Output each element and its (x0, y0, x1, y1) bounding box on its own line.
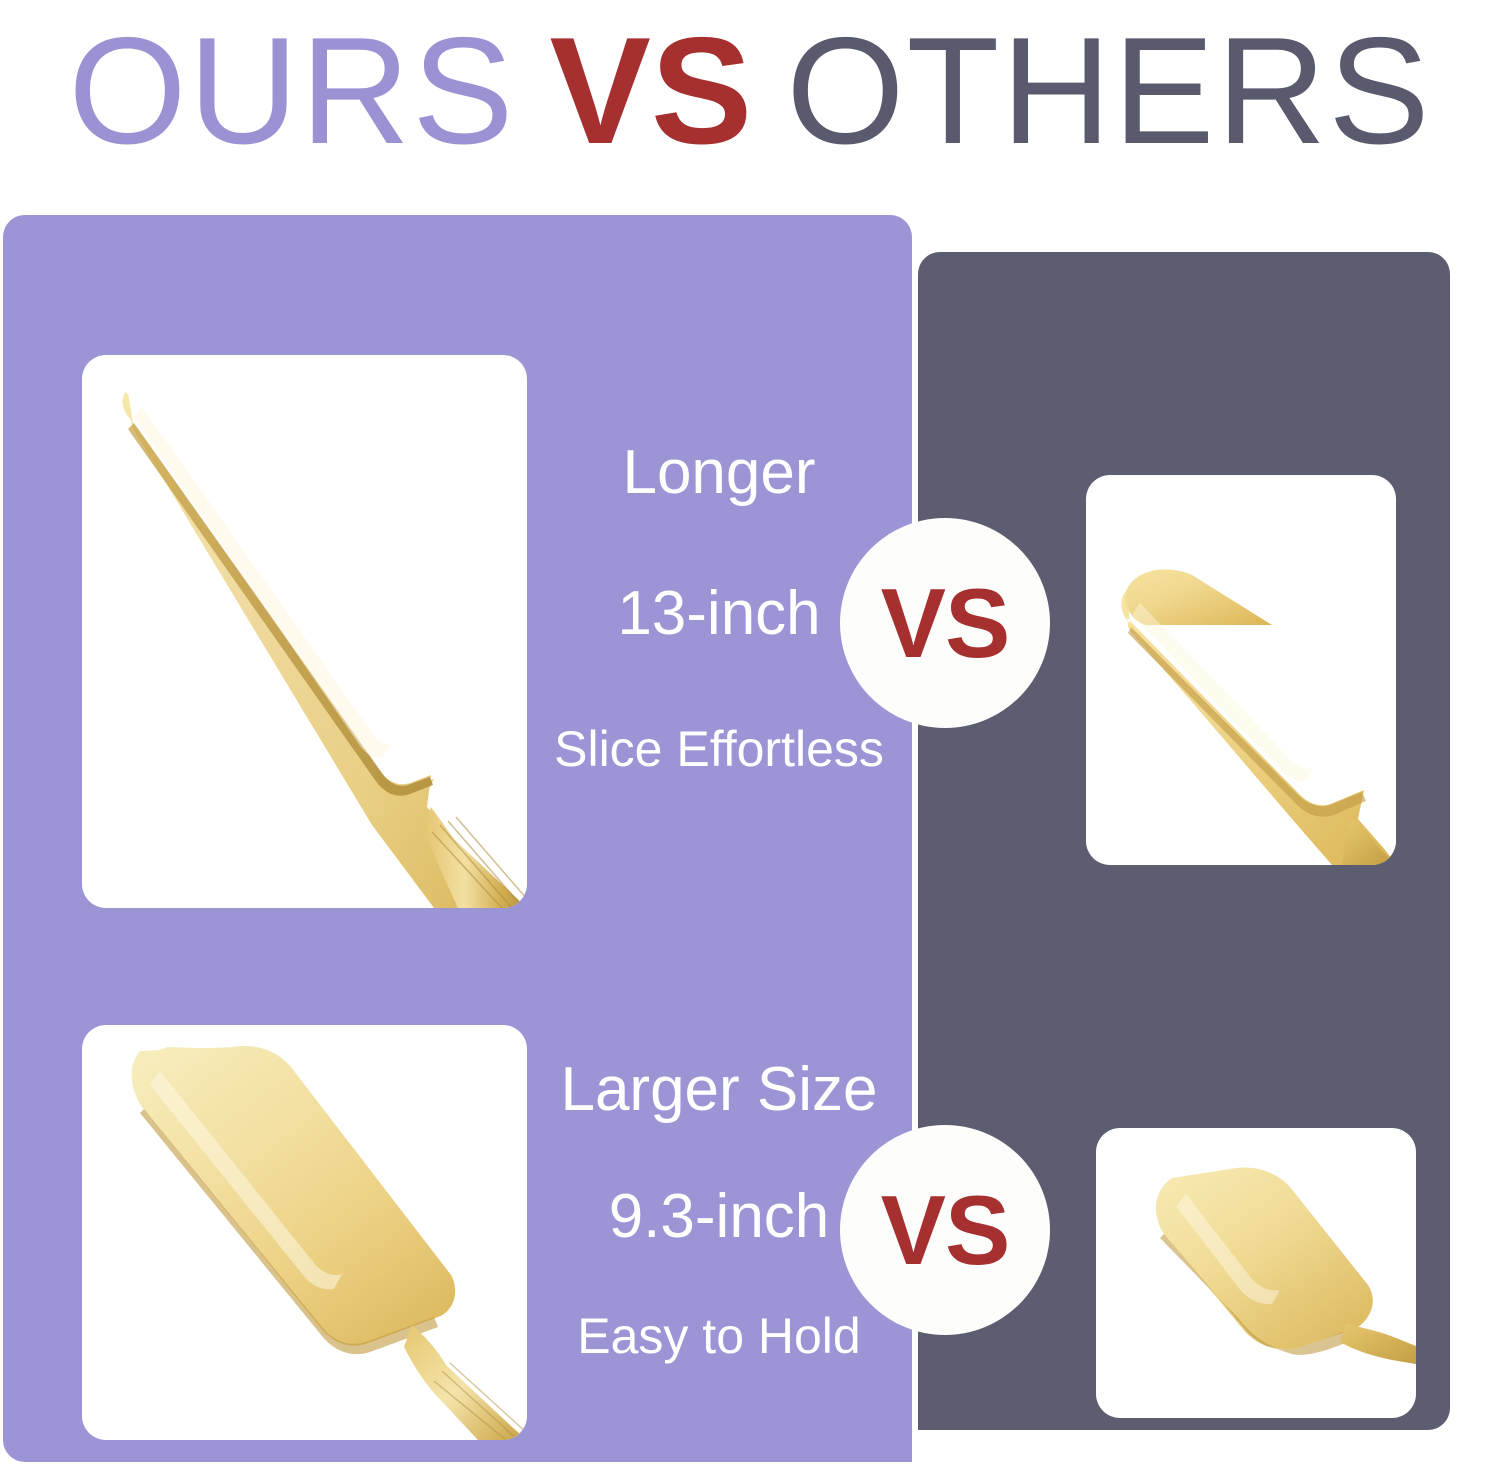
others-knife-card (1086, 475, 1396, 865)
feature-title-longer: Longer (528, 438, 910, 507)
feature-subtitle-easy-to-hold: Easy to Hold (528, 1308, 910, 1364)
page-title: OURS VS OTHERS (0, 0, 1500, 182)
short-gold-cake-knife-icon (1086, 475, 1396, 865)
long-gold-cake-knife-icon (82, 355, 527, 908)
title-word-others: OTHERS (786, 15, 1431, 167)
vs-badge-server: VS (840, 1125, 1050, 1335)
feature-subtitle-slice-effortless: Slice Effortless (528, 721, 910, 777)
vs-badge-knife: VS (840, 518, 1050, 728)
title-word-ours: OURS (68, 15, 515, 167)
others-server-card (1096, 1128, 1416, 1418)
feature-title-larger-size: Larger Size (528, 1055, 910, 1124)
ours-server-card (82, 1025, 527, 1440)
small-gold-cake-server-icon (1096, 1128, 1416, 1418)
title-word-vs: VS (550, 15, 753, 167)
large-gold-cake-server-icon (82, 1025, 527, 1440)
ours-knife-card (82, 355, 527, 908)
